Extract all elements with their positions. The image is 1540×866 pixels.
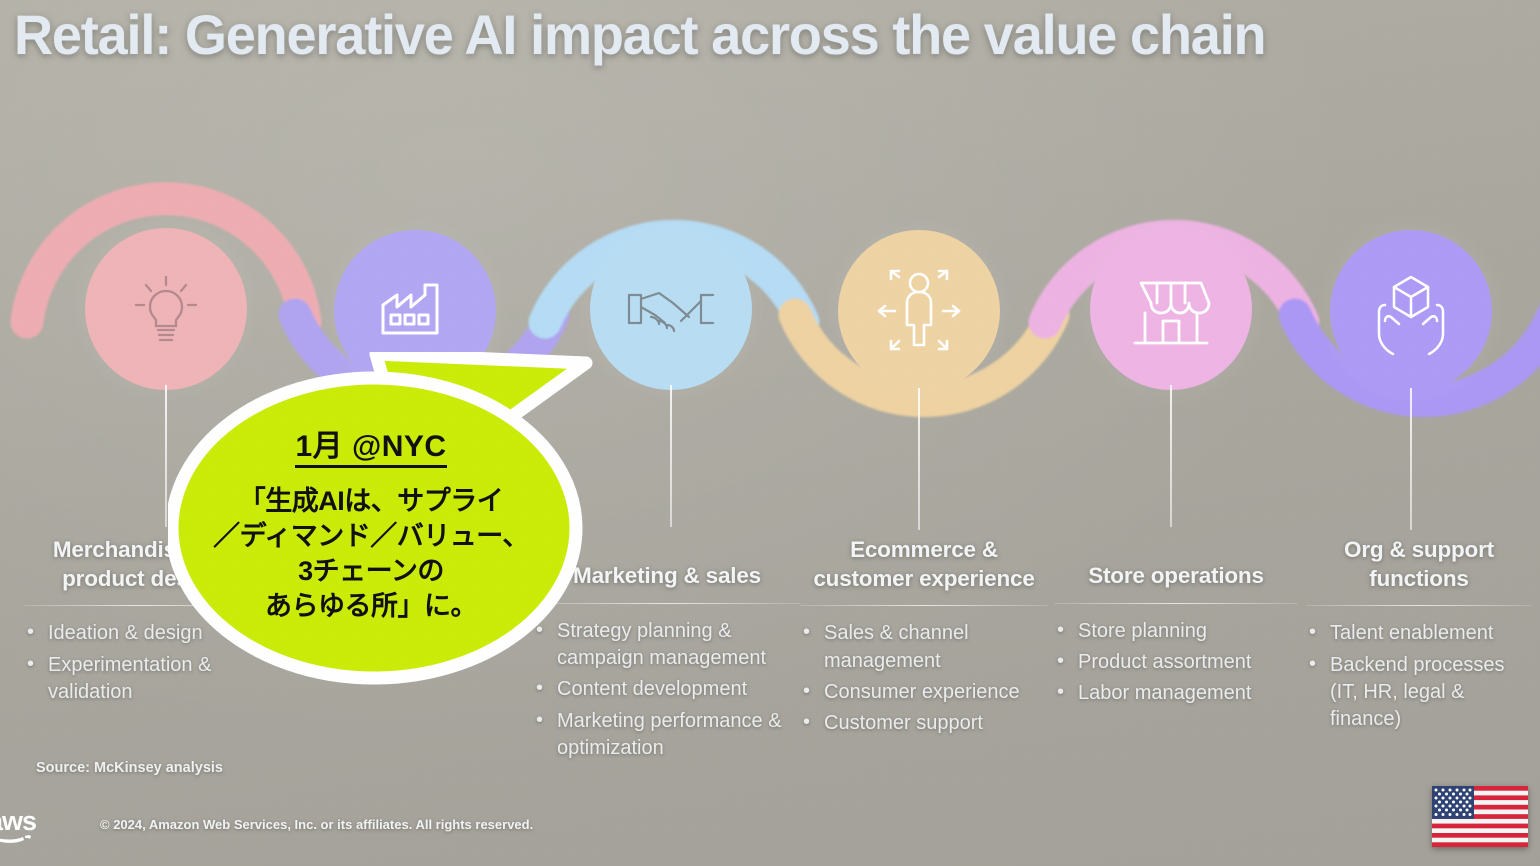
list-item: Customer support xyxy=(800,710,1048,737)
column-divider xyxy=(1054,603,1298,604)
annotation-heading: 1月 @NYC xyxy=(295,430,446,468)
column-bullet-list: Store planning Product assortment Labor … xyxy=(1054,618,1298,708)
annotation-body: 「生成AIは、サプライ ／ディマンド／バリュー、 3チェーンの あらゆる所」に。 xyxy=(196,484,546,624)
person-arrows-icon xyxy=(869,261,969,361)
list-item: Labor management xyxy=(1054,680,1298,707)
list-item: Store planning xyxy=(1054,618,1298,645)
svg-text:aws: aws xyxy=(0,806,36,836)
column-title: Store operations xyxy=(1054,562,1298,591)
annotation-text-block: 1月 @NYC 「生成AIは、サプライ ／ディマンド／バリュー、 3チェーンの … xyxy=(196,430,546,624)
node-stem-5 xyxy=(1170,385,1172,527)
column-divider xyxy=(1306,605,1532,606)
column-bullet-list: Sales & channel management Consumer expe… xyxy=(800,620,1048,738)
node-stem-3 xyxy=(670,385,672,527)
node-stem-4 xyxy=(918,388,920,530)
node-circle-ecommerce xyxy=(838,230,1000,392)
annotation-body-line: 「生成AIは、サプライ xyxy=(196,484,546,519)
column-title: Org & support functions xyxy=(1306,536,1532,593)
column-store-operations: Store operations Store planning Product … xyxy=(1054,562,1298,712)
list-item: Product assortment xyxy=(1054,649,1298,676)
handshake-icon xyxy=(621,263,721,355)
factory-icon xyxy=(367,263,463,359)
list-item: Marketing performance & optimization xyxy=(533,708,801,763)
aws-logo: aws xyxy=(0,806,60,850)
list-item: Sales & channel management xyxy=(800,620,1048,675)
node-stem-1 xyxy=(165,385,167,527)
list-item: Consumer experience xyxy=(800,679,1048,706)
annotation-body-line: あらゆる所」に。 xyxy=(196,589,546,624)
lightbulb-icon xyxy=(120,263,212,355)
page-title: Retail: Generative AI impact across the … xyxy=(14,4,1500,67)
node-circle-marketing xyxy=(590,228,752,390)
annotation-body-line: 3チェーンの xyxy=(196,554,546,589)
us-flag xyxy=(1432,786,1528,847)
column-org-support: Org & support functions Talent enablemen… xyxy=(1306,536,1532,738)
column-title: Ecommerce & customer experience xyxy=(800,536,1048,593)
list-item: Backend processes (IT, HR, legal & finan… xyxy=(1306,652,1532,734)
column-bullet-list: Talent enablement Backend processes (IT,… xyxy=(1306,620,1532,734)
storefront-icon xyxy=(1121,263,1221,355)
node-circle-store-operations xyxy=(1090,228,1252,390)
list-item: Talent enablement xyxy=(1306,620,1532,647)
column-ecommerce: Ecommerce & customer experience Sales & … xyxy=(800,536,1048,742)
copyright-notice: © 2024, Amazon Web Services, Inc. or its… xyxy=(100,817,533,832)
node-stem-6 xyxy=(1410,388,1412,530)
column-divider xyxy=(800,605,1048,606)
slide-canvas: Retail: Generative AI impact across the … xyxy=(0,0,1540,866)
annotation-callout: 1月 @NYC 「生成AIは、サプライ ／ディマンド／バリュー、 3チェーンの … xyxy=(168,352,608,692)
hands-cube-icon xyxy=(1361,261,1461,361)
annotation-body-line: ／ディマンド／バリュー、 xyxy=(196,519,546,554)
node-circle-org-support xyxy=(1330,230,1492,392)
source-note: Source: McKinsey analysis xyxy=(36,760,223,776)
